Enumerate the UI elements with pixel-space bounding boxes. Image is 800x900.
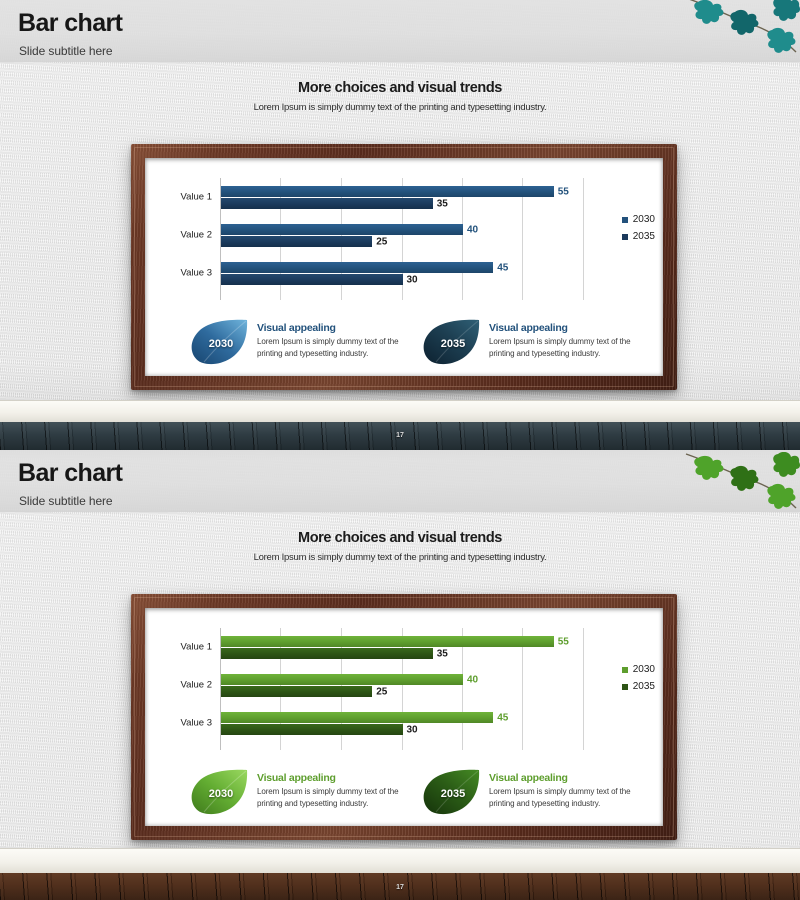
slide-2-chart-legend: 2030 2035 (622, 664, 655, 698)
slide-1-chart-legend: 2030 2035 (622, 214, 655, 248)
slide-2-baseboard (0, 848, 800, 873)
info-text-2035: Visual appealing Lorem Ipsum is simply d… (483, 768, 653, 816)
info-block-2035: 2035 Visual appealing Lorem Ipsum is sim… (421, 768, 653, 816)
info-heading: Visual appealing (257, 772, 421, 784)
bar-value-label: 30 (407, 724, 418, 735)
info-body: Lorem Ipsum is simply dummy text of the … (489, 786, 653, 809)
legend-item-2030: 2030 (622, 664, 655, 675)
bar-2035-value-1: 35 (221, 198, 433, 209)
bar-2030-value-2: 40 (221, 224, 463, 235)
bar-value-label: 40 (467, 224, 478, 235)
bar-value-label: 25 (376, 686, 387, 697)
info-heading: Visual appealing (489, 772, 653, 784)
slide-1-content-title: More choices and visual trends (0, 80, 800, 96)
bar-2035-value-1: 35 (221, 648, 433, 659)
gridline-60 (583, 178, 584, 300)
slide-2-content-subtitle: Lorem Ipsum is simply dummy text of the … (0, 552, 800, 563)
category-label-value-1: Value 1 (180, 642, 212, 653)
slide-1-info-row: 2030 Visual appealing Lorem Ipsum is sim… (145, 314, 663, 376)
leaf-badge-2030: 2030 (189, 768, 251, 816)
info-text-2030: Visual appealing Lorem Ipsum is simply d… (251, 318, 421, 366)
info-block-2030: 2030 Visual appealing Lorem Ipsum is sim… (189, 768, 421, 816)
category-label-value-1: Value 1 (180, 192, 212, 203)
category-label-value-2: Value 2 (180, 230, 212, 241)
legend-item-2035: 2035 (622, 231, 655, 242)
legend-swatch-icon (622, 667, 628, 673)
category-label-value-3: Value 3 (180, 268, 212, 279)
legend-label: 2030 (633, 214, 655, 225)
slide-1-page-number: 17 (0, 432, 800, 439)
bar-2035-value-3: 30 (221, 274, 403, 285)
legend-label: 2035 (633, 681, 655, 692)
bar-2035-value-3: 30 (221, 724, 403, 735)
info-body: Lorem Ipsum is simply dummy text of the … (257, 336, 421, 359)
bar-value-label: 35 (437, 648, 448, 659)
legend-label: 2035 (633, 231, 655, 242)
bar-value-label: 45 (497, 262, 508, 273)
bar-2030-value-3: 45 (221, 712, 493, 723)
slide-1-title: Bar chart (18, 9, 122, 38)
leaf-year-label: 2035 (421, 768, 483, 816)
info-heading: Visual appealing (489, 322, 653, 334)
slide-2-page-number: 17 (0, 884, 800, 891)
info-block-2030: 2030 Visual appealing Lorem Ipsum is sim… (189, 318, 421, 366)
slide-2-content-title: More choices and visual trends (0, 530, 800, 546)
slide-1-subtitle: Slide subtitle here (19, 44, 113, 58)
slide-1-baseboard (0, 400, 800, 422)
info-text-2035: Visual appealing Lorem Ipsum is simply d… (483, 318, 653, 366)
bar-value-label: 30 (407, 274, 418, 285)
legend-swatch-icon (622, 217, 628, 223)
leaf-badge-2030: 2030 (189, 318, 251, 366)
info-heading: Visual appealing (257, 322, 421, 334)
bar-value-label: 55 (558, 186, 569, 197)
info-block-2035: 2035 Visual appealing Lorem Ipsum is sim… (421, 318, 653, 366)
bar-value-label: 55 (558, 636, 569, 647)
slide-1-plot-area: Value 1 55 35 Value 2 40 25 (220, 178, 583, 300)
slide-2-title: Bar chart (18, 459, 122, 488)
category-label-value-2: Value 2 (180, 680, 212, 691)
bar-value-label: 40 (467, 674, 478, 685)
gridline-60 (583, 628, 584, 750)
slide-2-info-row: 2030 Visual appealing Lorem Ipsum is sim… (145, 764, 663, 826)
slide-2-picture-frame: Value 1 55 35 Value 2 40 25 (131, 594, 677, 840)
info-body: Lorem Ipsum is simply dummy text of the … (257, 786, 421, 809)
bar-2035-value-2: 25 (221, 236, 372, 247)
leaf-badge-2035: 2035 (421, 318, 483, 366)
leaf-badge-2035: 2035 (421, 768, 483, 816)
leaf-year-label: 2030 (189, 318, 251, 366)
slide-2-chart: Value 1 55 35 Value 2 40 25 (145, 608, 663, 764)
legend-label: 2030 (633, 664, 655, 675)
slide-1-chart-canvas: Value 1 55 35 Value 2 40 25 (145, 158, 663, 376)
bar-value-label: 35 (437, 198, 448, 209)
info-text-2030: Visual appealing Lorem Ipsum is simply d… (251, 768, 421, 816)
bar-2030-value-1: 55 (221, 186, 554, 197)
bar-value-label: 45 (497, 712, 508, 723)
slide-1-chart: Value 1 55 35 Value 2 40 25 (145, 158, 663, 314)
legend-swatch-icon (622, 234, 628, 240)
slide-1-content-subtitle: Lorem Ipsum is simply dummy text of the … (0, 102, 800, 113)
slide-1: Bar chart Slide subtitle here More choic… (0, 0, 800, 422)
leaf-year-label: 2030 (189, 768, 251, 816)
slide-deck-page: Bar chart Slide subtitle here More choic… (0, 0, 800, 900)
bar-value-label: 25 (376, 236, 387, 247)
slide-2-chart-canvas: Value 1 55 35 Value 2 40 25 (145, 608, 663, 826)
bar-2030-value-3: 45 (221, 262, 493, 273)
slide-1-picture-frame: Value 1 55 35 Value 2 40 25 (131, 144, 677, 390)
legend-item-2035: 2035 (622, 681, 655, 692)
slide-2-subtitle: Slide subtitle here (19, 494, 113, 508)
slide-2: Bar chart Slide subtitle here More choic… (0, 450, 800, 900)
legend-swatch-icon (622, 684, 628, 690)
bar-2030-value-1: 55 (221, 636, 554, 647)
slide-2-plot-area: Value 1 55 35 Value 2 40 25 (220, 628, 583, 750)
bar-2035-value-2: 25 (221, 686, 372, 697)
legend-item-2030: 2030 (622, 214, 655, 225)
category-label-value-3: Value 3 (180, 718, 212, 729)
bar-2030-value-2: 40 (221, 674, 463, 685)
leaf-year-label: 2035 (421, 318, 483, 366)
info-body: Lorem Ipsum is simply dummy text of the … (489, 336, 653, 359)
